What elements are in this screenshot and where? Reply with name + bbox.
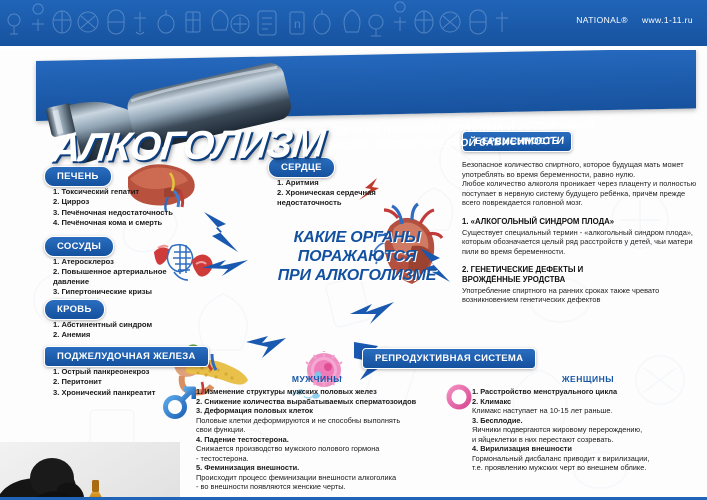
badge-vessels: СОСУДЫ <box>44 236 114 257</box>
list-item: 3. Гипертонические кризы <box>44 287 204 297</box>
men-line: 3. Деформация половых клеток <box>196 406 438 416</box>
poster-root: n NATIONAL® www.1-11.ru <box>0 0 707 500</box>
poster-body: АЛКОГОЛИЗМ ОДИН ИЗ НАИБОЛЕЕ ОПАСНЫХ И УС… <box>0 50 707 500</box>
list-item: 1. Атеросклероз <box>44 257 204 267</box>
pregnancy-heading-1: 1. «АЛКОГОЛЬНЫЙ СИНДРОМ ПЛОДА» <box>462 217 702 227</box>
women-body: 1. Расстройство менструального цикла 2. … <box>472 387 704 473</box>
center-headline-line2: ПОРАЖАЮТСЯ <box>252 247 462 266</box>
man-with-bottle-photo <box>0 442 180 500</box>
lightning-bolt-icon <box>200 256 250 278</box>
svg-text:n: n <box>294 17 301 31</box>
list-item: 1. Токсический гепатит <box>44 187 204 197</box>
men-line: Снижается производство мужского полового… <box>196 444 438 454</box>
women-title: ЖЕНЩИНЫ <box>472 374 704 384</box>
female-symbol-icon <box>444 384 474 428</box>
list-item: 2. Анемия <box>44 330 204 340</box>
women-line: и яйцеклетки в них перестают созревать. <box>472 435 704 445</box>
list-item: 3. Печёночная недостаточность <box>44 208 204 218</box>
badge-blood: КРОВЬ <box>44 299 105 320</box>
men-title: МУЖЧИНЫ <box>196 374 438 384</box>
list-item: 2. Хроническая сердечная недостаточность <box>268 188 393 208</box>
center-headline: КАКИЕ ОРГАНЫ ПОРАЖАЮТСЯ ПРИ АЛКОГОЛИЗМЕ <box>252 228 462 285</box>
section-vessels: СОСУДЫ 1. Атеросклероз 2. Повышенное арт… <box>44 236 204 298</box>
women-line: т.е. проявлению мужских черт во внешнем … <box>472 463 704 473</box>
pregnancy-paragraph-2: Употребление спиртного на ранних сроках … <box>462 286 702 305</box>
lightning-bolt-icon <box>200 210 242 254</box>
men-line: 4. Падение тестостерона. <box>196 435 438 445</box>
men-line: Половые клетки деформируются и не способ… <box>196 416 438 426</box>
male-symbol-icon <box>162 386 196 420</box>
women-line: 1. Расстройство менструального цикла <box>472 387 704 397</box>
liver-list: 1. Токсический гепатит 2. Цирроз 3. Печё… <box>44 187 204 228</box>
medical-pattern-icon: n <box>0 0 520 46</box>
list-item: 2. Повышенное артериальное давление <box>44 267 204 287</box>
center-headline-line3: ПРИ АЛКОГОЛИЗМЕ <box>252 266 462 285</box>
men-line: свои функции. <box>196 425 438 435</box>
section-liver: ПЕЧЕНЬ 1. Токсический гепатит 2. Цирроз … <box>44 166 204 228</box>
women-line: Гормональный дисбаланс приводит к вирили… <box>472 454 704 464</box>
page-title: АЛКОГОЛИЗМ <box>50 121 327 171</box>
men-line: 5. Феминизация внешности. <box>196 463 438 473</box>
list-item: 2. Цирроз <box>44 197 204 207</box>
heart-list: 1. Аритмия 2. Хроническая сердечная недо… <box>268 178 393 208</box>
lightning-bolt-icon <box>244 334 288 360</box>
brand-name: NATIONAL® <box>576 15 628 25</box>
section-pregnancy: БЕРЕМЕННОСТЬ Безопасное количество спирт… <box>462 131 702 305</box>
women-line: Климакс наступает на 10-15 лет раньше. <box>472 406 704 416</box>
badge-reproductive: РЕПРОДУКТИВНАЯ СИСТЕМА <box>362 348 536 369</box>
list-item: 4. Печёночная кома и смерть <box>44 218 204 228</box>
pregnancy-intro: Безопасное количество спиртного, которое… <box>462 160 702 179</box>
badge-pancreas: ПОДЖЕЛУДОЧНАЯ ЖЕЛЕЗА <box>44 346 209 367</box>
men-line: - тестостерона. <box>196 454 438 464</box>
pregnancy-heading-2b: ВРОЖДЁННЫЕ УРОДСТВА <box>462 275 702 285</box>
women-line: Яичники подвергаются жировому перерожден… <box>472 425 704 435</box>
section-reproductive: РЕПРОДУКТИВНАЯ СИСТЕМА <box>362 348 536 369</box>
men-line: 1. Изменение структуры мужских половых ж… <box>196 387 438 397</box>
lightning-bolt-icon <box>348 300 396 326</box>
women-line: 2. Климакс <box>472 397 704 407</box>
center-headline-line1: КАКИЕ ОРГАНЫ <box>252 228 462 247</box>
men-line: 2. Снижение количества вырабатываемых сп… <box>196 397 438 407</box>
pregnancy-paragraph-1: Существует специальный термин - «алкогол… <box>462 228 702 257</box>
men-body: 1. Изменение структуры мужских половых ж… <box>196 387 438 492</box>
brand-website[interactable]: www.1-11.ru <box>642 15 693 25</box>
section-blood: КРОВЬ 1. Абстинентный синдром 2. Анемия <box>44 299 204 341</box>
women-line: 3. Бесплодие. <box>472 416 704 426</box>
pregnancy-heading-2a: 2. ГЕНЕТИЧЕСКИЕ ДЕФЕКТЫ И <box>462 265 702 275</box>
women-column: ЖЕНЩИНЫ 1. Расстройство менструального ц… <box>472 374 704 473</box>
women-line: 4. Вирилизация внешности <box>472 444 704 454</box>
title-banner <box>36 50 696 121</box>
top-brand-bar: n NATIONAL® www.1-11.ru <box>0 0 707 46</box>
vessels-list: 1. Атеросклероз 2. Повышенное артериальн… <box>44 257 204 297</box>
men-line: - во внешности появляются женские черты. <box>196 482 438 492</box>
brand-area: NATIONAL® www.1-11.ru <box>576 15 693 25</box>
blood-list: 1. Абстинентный синдром 2. Анемия <box>44 320 204 340</box>
men-line: Происходит процесс феминизации внешности… <box>196 473 438 483</box>
list-item: 1. Аритмия <box>268 178 393 188</box>
pregnancy-intro2: Любое количество алкоголя проникает чере… <box>462 179 702 208</box>
list-item: 1. Абстинентный синдром <box>44 320 204 330</box>
men-column: МУЖЧИНЫ 1. Изменение структуры мужских п… <box>196 374 438 492</box>
